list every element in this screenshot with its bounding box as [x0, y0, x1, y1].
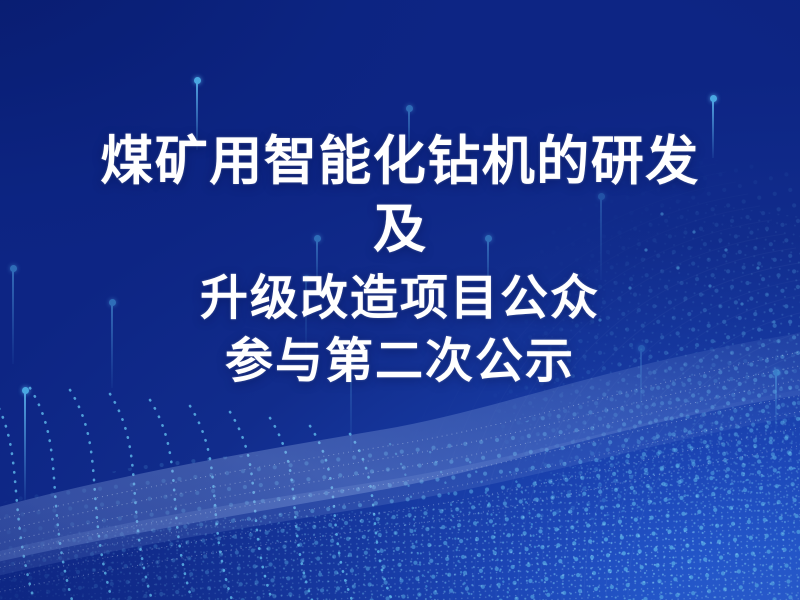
announcement-poster: 煤矿用智能化钻机的研发 及 升级改造项目公众 参与第二次公示 [0, 0, 800, 600]
title-line-3: 升级改造项目公众 [200, 273, 600, 323]
title-line-4: 参与第二次公示 [225, 336, 575, 386]
poster-title-block: 煤矿用智能化钻机的研发 及 升级改造项目公众 参与第二次公示 [0, 0, 800, 600]
title-line-1: 煤矿用智能化钻机的研发 [100, 134, 700, 190]
title-line-2: 及 [373, 202, 427, 258]
